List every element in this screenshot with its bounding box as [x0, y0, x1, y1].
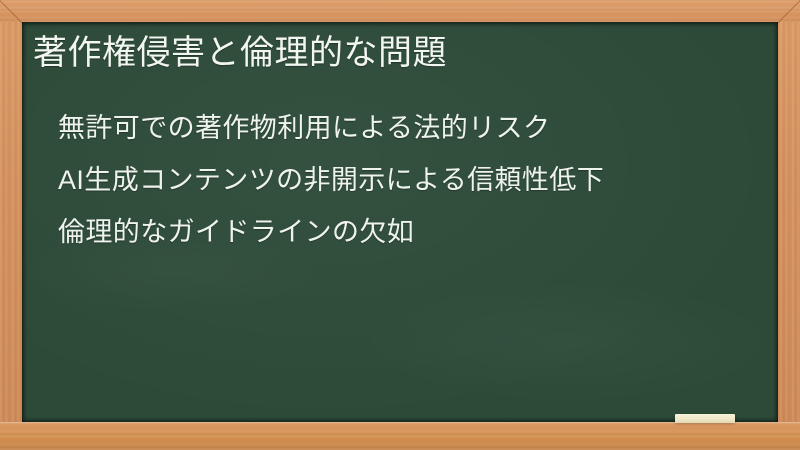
frame-ledge-bottom [0, 422, 800, 450]
bullet-item: 倫理的なガイドラインの欠如 [58, 206, 604, 258]
chalkboard-slide: 著作権侵害と倫理的な問題 無許可での著作物利用による法的リスク AI生成コンテン… [0, 0, 800, 450]
slide-content: 著作権侵害と倫理的な問題 無許可での著作物利用による法的リスク AI生成コンテン… [22, 22, 778, 422]
slide-title: 著作権侵害と倫理的な問題 [33, 30, 447, 76]
bullet-item: AI生成コンテンツの非開示による信頼性低下 [58, 154, 604, 206]
bullet-item: 無許可での著作物利用による法的リスク [58, 102, 604, 154]
bullet-list: 無許可での著作物利用による法的リスク AI生成コンテンツの非開示による信頼性低下… [58, 102, 604, 258]
frame-rail-top [0, 0, 800, 22]
chalk-stick-icon [675, 414, 735, 423]
